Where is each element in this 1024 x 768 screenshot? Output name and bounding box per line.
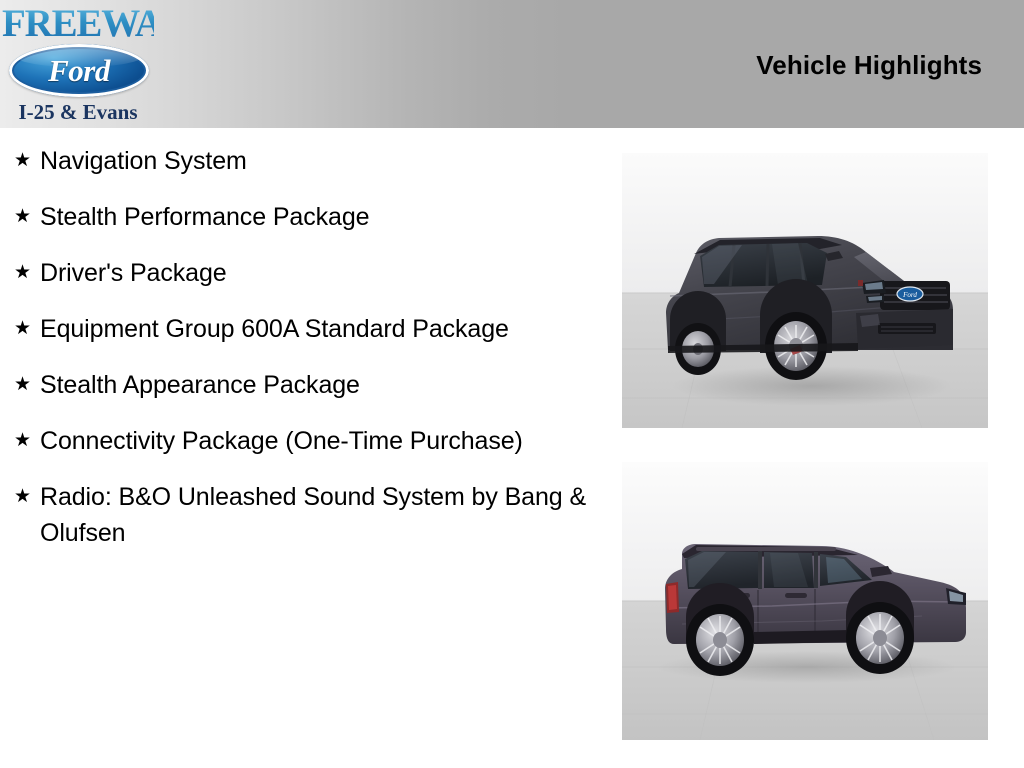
- list-item-label: Stealth Appearance Package: [40, 367, 590, 403]
- dealer-logo: FREEWAY Ford I-25 & Evans: [2, 2, 154, 126]
- list-item: ★ Stealth Performance Package: [10, 199, 590, 235]
- logo-freeway-wordmark: FREEWAY: [2, 3, 154, 45]
- ford-script-label: Ford: [9, 44, 149, 97]
- list-item-label: Radio: B&O Unleashed Sound System by Ban…: [40, 479, 590, 551]
- list-item: ★ Connectivity Package (One-Time Purchas…: [10, 423, 590, 459]
- vehicle-highlights-list: ★ Navigation System ★ Stealth Performanc…: [10, 143, 590, 571]
- vehicle-photo-front-three-quarter[interactable]: Ford: [622, 153, 988, 428]
- page-header: FREEWAY Ford I-25 & Evans Vehicle Highli…: [0, 0, 1024, 128]
- dealer-location-tagline: I-25 & Evans: [2, 100, 154, 125]
- star-bullet-icon: ★: [10, 143, 40, 179]
- svg-text:Ford: Ford: [902, 291, 917, 299]
- star-bullet-icon: ★: [10, 423, 40, 459]
- star-bullet-icon: ★: [10, 255, 40, 291]
- list-item-label: Equipment Group 600A Standard Package: [40, 311, 590, 347]
- list-item-label: Connectivity Package (One-Time Purchase): [40, 423, 590, 459]
- vehicle-photo-side-profile[interactable]: [622, 462, 988, 740]
- list-item: ★ Radio: B&O Unleashed Sound System by B…: [10, 479, 590, 551]
- page-title: Vehicle Highlights: [756, 50, 982, 81]
- list-item: ★ Driver's Package: [10, 255, 590, 291]
- list-item-label: Navigation System: [40, 143, 590, 179]
- ford-oval-icon: Ford: [9, 44, 149, 97]
- list-item: ★ Stealth Appearance Package: [10, 367, 590, 403]
- list-item-label: Driver's Package: [40, 255, 590, 291]
- star-bullet-icon: ★: [10, 367, 40, 403]
- list-item: ★ Navigation System: [10, 143, 590, 179]
- vehicle-side-illustration: [622, 462, 988, 740]
- star-bullet-icon: ★: [10, 479, 40, 515]
- vehicle-front-illustration: Ford: [622, 153, 988, 428]
- star-bullet-icon: ★: [10, 199, 40, 235]
- list-item: ★ Equipment Group 600A Standard Package: [10, 311, 590, 347]
- list-item-label: Stealth Performance Package: [40, 199, 590, 235]
- star-bullet-icon: ★: [10, 311, 40, 347]
